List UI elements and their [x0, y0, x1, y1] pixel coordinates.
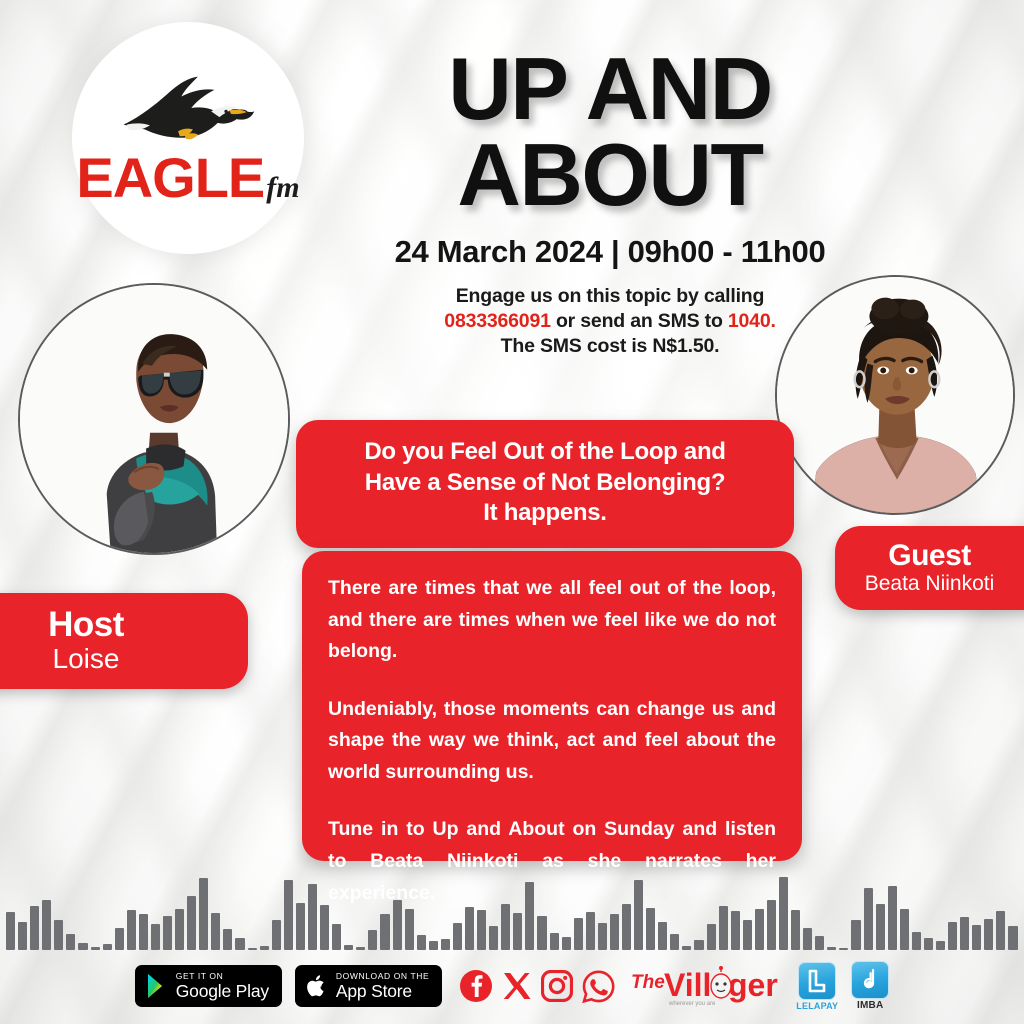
- google-play-small-text: GET IT ON: [176, 972, 269, 981]
- question-line-2: Have a Sense of Not Belonging?: [322, 468, 768, 499]
- waveform-bar: [610, 914, 619, 950]
- imba-label: IMBA: [857, 1000, 883, 1011]
- waveform-bar: [876, 904, 885, 950]
- guest-portrait: [775, 275, 1015, 515]
- waveform-bar: [586, 912, 595, 950]
- villager-the-text: The: [631, 972, 665, 993]
- body-paragraph-2: Undeniably, those moments can change us …: [328, 694, 776, 789]
- waveform-bar: [525, 882, 534, 950]
- station-logo: EAGLE fm: [72, 22, 304, 254]
- waveform-bar: [151, 924, 160, 950]
- poster-canvas: EAGLE fm UP AND ABOUT 24 March 2024 | 09…: [0, 0, 1024, 1024]
- waveform-bar: [791, 910, 800, 950]
- show-title-line2: ABOUT: [330, 132, 890, 218]
- waveform-bar: [18, 922, 27, 950]
- waveform-bar: [368, 930, 377, 950]
- logo-fm-text: fm: [266, 173, 299, 203]
- waveform-bar: [743, 920, 752, 950]
- logo-eagle-text: EAGLE: [76, 150, 264, 206]
- body-card: There are times that we all feel out of …: [302, 551, 802, 861]
- engage-middle-text: or send an SMS to: [551, 310, 728, 332]
- host-portrait-illustration: [20, 285, 288, 553]
- waveform-bar: [332, 924, 341, 950]
- waveform-bar: [851, 920, 860, 950]
- host-role-label: Host: [48, 607, 124, 643]
- waveform-bar: [634, 880, 643, 950]
- facebook-icon[interactable]: [459, 969, 493, 1003]
- waveform-bar: [996, 911, 1005, 950]
- imba-music-note-icon: [860, 968, 880, 992]
- waveform-bar: [1008, 926, 1017, 950]
- lelapay-label: LELAPAY: [796, 1001, 838, 1011]
- villager-name-text-2: ger: [728, 967, 778, 1003]
- x-twitter-icon[interactable]: [502, 971, 532, 1001]
- google-play-badge[interactable]: GET IT ON Google Play: [135, 965, 282, 1007]
- waveform-bar: [115, 928, 124, 950]
- waveform-bar: [42, 900, 51, 950]
- lelapay-l-glyph: [806, 969, 828, 993]
- waveform-bar: [127, 910, 136, 950]
- host-portrait: [18, 283, 290, 555]
- show-title-line1: UP AND: [330, 46, 890, 132]
- host-name-banner: Host Loise: [0, 593, 248, 689]
- waveform-bar: [380, 914, 389, 950]
- waveform-bar: [719, 906, 728, 950]
- waveform-bar: [779, 877, 788, 950]
- waveform-bar: [948, 922, 957, 950]
- guest-name-label: Beata Niinkoti: [865, 572, 995, 596]
- waveform-bar: [501, 904, 510, 950]
- waveform-bar: [864, 888, 873, 950]
- waveform-bar: [30, 906, 39, 950]
- audio-waveform: [0, 862, 1024, 950]
- guest-name-banner: Guest Beata Niinkoti: [835, 526, 1024, 610]
- villager-name-text: Vill: [664, 967, 711, 1003]
- waveform-bar: [187, 896, 196, 950]
- waveform-bar: [537, 916, 546, 950]
- waveform-bar: [574, 918, 583, 950]
- app-store-small-text: Download on the: [336, 972, 429, 981]
- waveform-bar: [272, 920, 281, 950]
- waveform-bar: [211, 913, 220, 950]
- waveform-bar: [175, 909, 184, 950]
- guest-portrait-illustration: [777, 277, 1013, 513]
- waveform-bar: [658, 922, 667, 950]
- waveform-bar: [199, 878, 208, 950]
- villager-logo[interactable]: The Vill ger wherever you are: [631, 964, 783, 1008]
- show-date-time: 24 March 2024 | 09h00 - 11h00: [330, 234, 890, 270]
- question-line-1: Do you Feel Out of the Loop and: [322, 437, 768, 468]
- waveform-bar: [900, 909, 909, 950]
- villager-tagline: wherever you are: [668, 1001, 716, 1007]
- question-card: Do you Feel Out of the Loop and Have a S…: [296, 420, 794, 548]
- header-block: UP AND ABOUT 24 March 2024 | 09h00 - 11h…: [330, 46, 890, 359]
- waveform-bar: [465, 907, 474, 950]
- waveform-bar: [984, 919, 993, 950]
- waveform-bar: [960, 917, 969, 950]
- google-play-icon: [145, 973, 169, 999]
- imba-icon: [851, 961, 889, 999]
- engage-sms-shortcode: 1040.: [728, 310, 776, 332]
- waveform-bar: [139, 914, 148, 950]
- waveform-bar: [453, 923, 462, 950]
- app-store-big-text: App Store: [336, 983, 429, 1001]
- engage-line-1: Engage us on this topic by calling: [330, 284, 890, 309]
- partner-lelapay[interactable]: LELAPAY: [796, 962, 838, 1011]
- waveform-bar: [477, 910, 486, 950]
- app-store-badge[interactable]: Download on the App Store: [295, 965, 442, 1007]
- waveform-bar: [707, 924, 716, 950]
- waveform-bar: [646, 908, 655, 950]
- waveform-bar: [888, 886, 897, 950]
- google-play-big-text: Google Play: [176, 983, 269, 1001]
- host-name-label: Loise: [53, 643, 120, 674]
- waveform-bar: [223, 929, 232, 950]
- show-title: UP AND ABOUT: [330, 46, 890, 218]
- waveform-bar: [489, 926, 498, 950]
- waveform-bar: [803, 928, 812, 950]
- waveform-bar: [972, 925, 981, 950]
- waveform-bar: [622, 904, 631, 950]
- body-paragraph-1: There are times that we all feel out of …: [328, 573, 776, 668]
- waveform-bar: [767, 900, 776, 950]
- social-icons-row: [459, 969, 615, 1003]
- waveform-bar: [163, 916, 172, 950]
- instagram-icon[interactable]: [541, 970, 573, 1002]
- partner-imba[interactable]: IMBA: [851, 961, 889, 1011]
- waveform-bar: [393, 900, 402, 950]
- waveform-bar: [513, 913, 522, 950]
- apple-icon: [305, 973, 329, 999]
- lelapay-icon: [798, 962, 836, 1000]
- waveform-bar: [308, 884, 317, 950]
- waveform-bar: [755, 909, 764, 950]
- waveform-bar: [731, 911, 740, 950]
- flying-eagle-icon: [104, 70, 272, 156]
- waveform-bar: [405, 909, 414, 950]
- waveform-bar: [284, 880, 293, 950]
- footer-bar: GET IT ON Google Play Download on the Ap…: [0, 948, 1024, 1024]
- waveform-bar: [598, 923, 607, 950]
- villager-logo-icon: The Vill ger wherever you are: [631, 964, 783, 1008]
- guest-role-label: Guest: [888, 541, 971, 572]
- engage-phone-number: 0833366091: [444, 310, 550, 332]
- whatsapp-icon[interactable]: [582, 970, 615, 1003]
- waveform-bar: [320, 905, 329, 950]
- waveform-bar: [296, 903, 305, 950]
- waveform-bar: [6, 912, 15, 950]
- waveform-bar: [54, 920, 63, 950]
- question-line-3: It happens.: [322, 498, 768, 529]
